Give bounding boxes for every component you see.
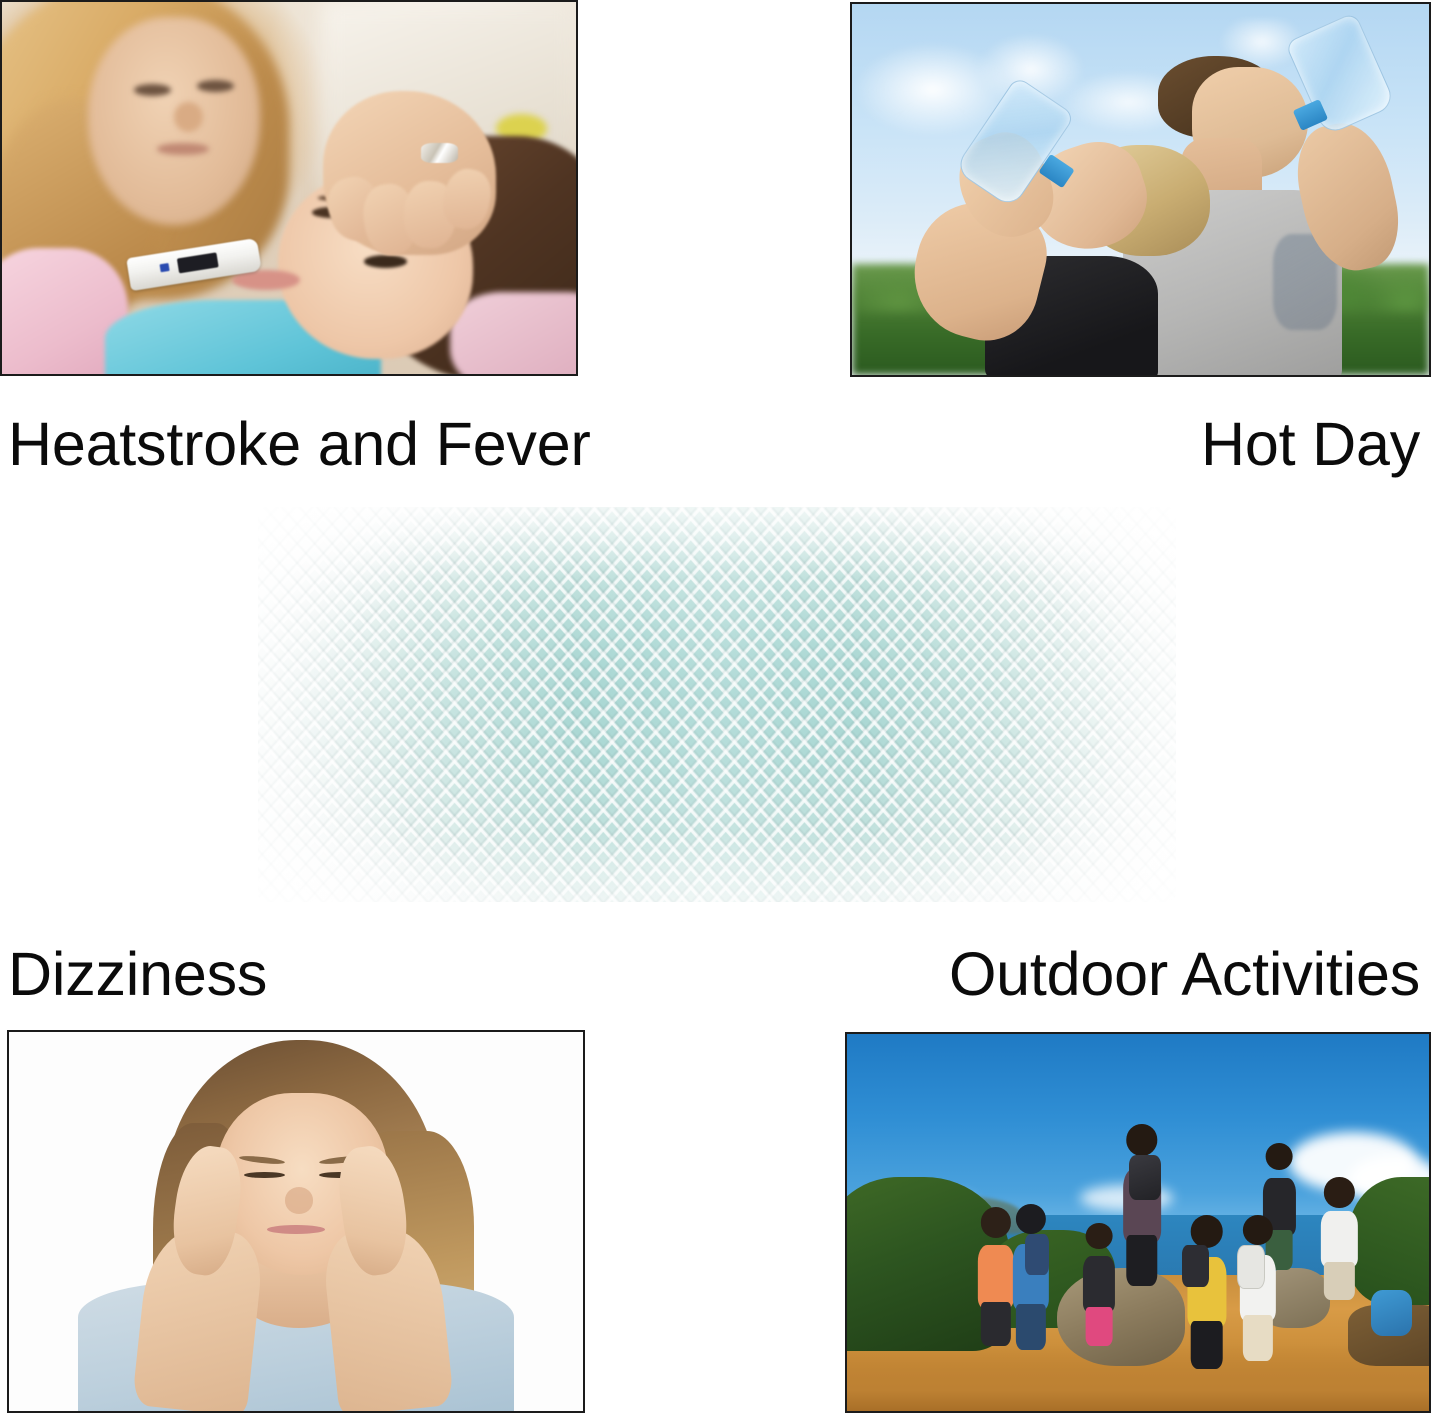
hot-day-photo — [850, 2, 1431, 377]
backpack-yellow-hiker — [1182, 1245, 1209, 1286]
caption-outdoor-activities: Outdoor Activities — [949, 944, 1420, 1005]
mother-nose — [174, 102, 203, 132]
wedding-ring — [421, 143, 458, 162]
hiker-head — [1086, 1223, 1113, 1250]
caption-heatstroke-and-fever: Heatstroke and Fever — [8, 414, 591, 475]
hiker-head — [1190, 1215, 1223, 1248]
hiker-head — [1243, 1215, 1273, 1245]
dizziness-photo — [7, 1030, 585, 1413]
cooling-gel-patch — [258, 507, 1176, 902]
backpack-center — [1129, 1155, 1162, 1200]
blue-gear-bag — [1371, 1290, 1412, 1335]
mother-mouth — [157, 143, 209, 154]
outdoor-activities-photo — [845, 1032, 1431, 1413]
woman-nose — [285, 1187, 314, 1214]
drawstring-bag — [1237, 1245, 1265, 1288]
outdoor-scene — [847, 1034, 1429, 1411]
hiker-legs — [1243, 1315, 1273, 1361]
heatstroke-and-fever-photo — [0, 0, 578, 376]
thermometer-display — [177, 252, 219, 273]
hiker-standing-center — [1126, 1124, 1157, 1282]
caption-hot-day: Hot Day — [1201, 414, 1420, 475]
pink-pillow-right — [450, 292, 576, 374]
hiker-legs — [1126, 1235, 1157, 1286]
page-canvas: Heatstroke and Fever Hot Day Dizziness O… — [0, 0, 1431, 1413]
hot-day-scene — [852, 4, 1429, 375]
gel-edge-fade — [258, 507, 1176, 902]
hiker-head — [1266, 1143, 1293, 1170]
thermometer-indicator — [160, 263, 170, 272]
child-right-eye — [364, 255, 407, 268]
fever-scene — [2, 2, 576, 374]
hiker-legs — [981, 1302, 1011, 1345]
hiker-legs — [1324, 1262, 1354, 1301]
hiker-head — [1126, 1124, 1157, 1155]
hiker-torso — [1321, 1211, 1357, 1266]
hiker-torso — [1083, 1256, 1115, 1311]
hiker-yellow-shirt — [1190, 1215, 1223, 1366]
hiker-legs — [1190, 1321, 1223, 1369]
hiker-blue-shirt — [1016, 1204, 1046, 1347]
hiker-far-right — [1324, 1177, 1354, 1298]
hiker-pink-shorts — [1086, 1223, 1113, 1344]
caption-dizziness: Dizziness — [8, 944, 267, 1005]
summit-boulder — [1057, 1268, 1185, 1366]
hiker-legs — [1016, 1304, 1046, 1350]
hiker-legs — [1086, 1307, 1113, 1346]
backpack-blue-hiker — [1025, 1234, 1049, 1275]
vegetation-right — [1348, 1177, 1429, 1305]
hiker-head — [1324, 1177, 1354, 1207]
hiker-orange-shirt — [981, 1207, 1011, 1343]
hiker-head — [1016, 1204, 1046, 1234]
hiker-head — [981, 1207, 1011, 1237]
hiker-torso — [978, 1245, 1014, 1307]
mother-left-eye — [134, 84, 171, 96]
dizziness-scene — [9, 1032, 583, 1411]
